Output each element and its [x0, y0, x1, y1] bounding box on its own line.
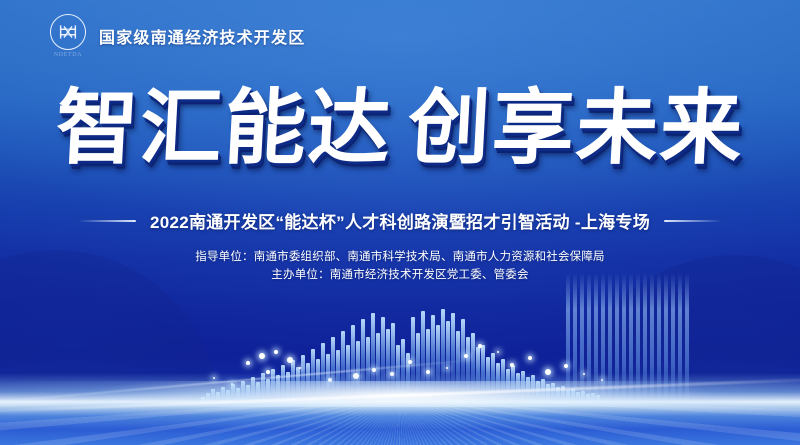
- main-title-part-1: 智汇能达: [54, 88, 394, 170]
- logo-subtext: NDETDA: [54, 52, 82, 58]
- organizer-line-host: 主办单位：南通市经济技术开发区党工委、管委会: [0, 266, 800, 284]
- organizer-line-guidance: 指导单位：南通市委组织部、南通市科学技术局、南通市人力资源和社会保障局: [0, 248, 800, 266]
- organization-name: 国家级南通经济技术开发区: [99, 24, 305, 48]
- main-title-part-2: 创享未来: [406, 88, 746, 170]
- logo-lockup: NDETDA: [46, 14, 90, 58]
- subtitle-row: 2022南通开发区“能达杯”人才科创路演暨招才引智活动 -上海专场: [0, 208, 800, 233]
- organizer-block: 指导单位：南通市委组织部、南通市科学技术局、南通市人力资源和社会保障局 主办单位…: [0, 248, 800, 284]
- circular-emblem-icon: [50, 14, 86, 50]
- poster-canvas: NDETDA 国家级南通经济技术开发区 智汇能达创享未来 2022南通开发区“能…: [0, 0, 800, 445]
- decorative-line-left-icon: [78, 220, 136, 222]
- event-subtitle: 2022南通开发区“能达杯”人才科创路演暨招才引智活动 -上海专场: [150, 208, 650, 233]
- brand-header: NDETDA 国家级南通经济技术开发区: [46, 14, 305, 58]
- main-title-block: 智汇能达创享未来: [0, 88, 800, 170]
- decorative-line-right-icon: [664, 220, 722, 222]
